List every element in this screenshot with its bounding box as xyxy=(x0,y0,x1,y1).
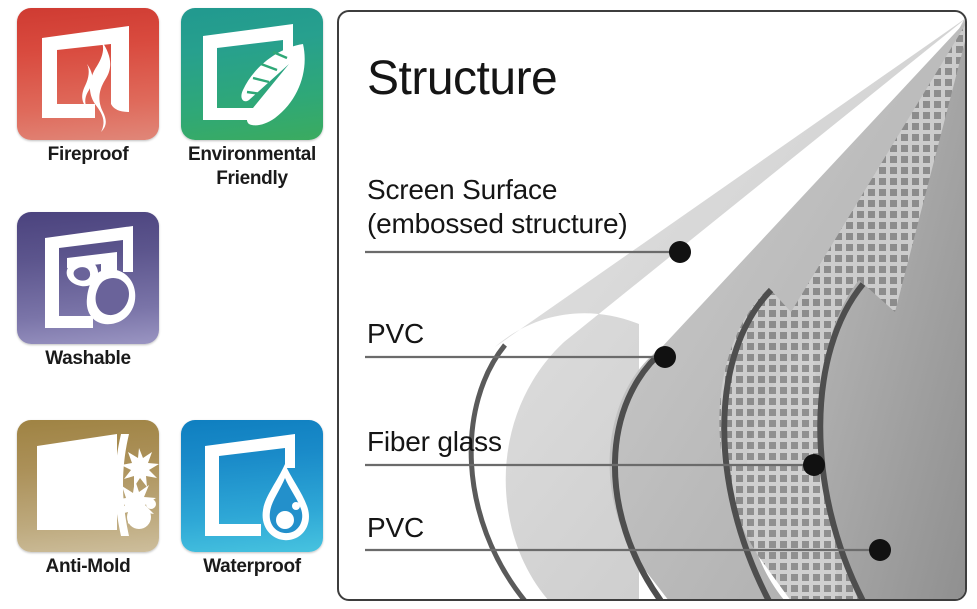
label-screen-surface-line1: Screen Surface xyxy=(367,173,628,207)
structure-panel: Structure Screen Surface (embossed struc… xyxy=(337,10,967,601)
feature-waterproof[interactable]: Waterproof xyxy=(172,420,332,577)
fireproof-flame-icon xyxy=(17,8,159,140)
label-screen-surface-line2: (embossed structure) xyxy=(367,207,628,241)
label-pvc-bottom: PVC xyxy=(367,512,424,544)
feature-label-waterproof: Waterproof xyxy=(172,557,332,577)
feature-icon-grid: Fireproof Environmental Friendly xyxy=(0,0,337,609)
leaf-icon xyxy=(181,8,323,140)
waterproof-tile[interactable] xyxy=(181,420,323,552)
water-drop-icon xyxy=(181,420,323,552)
feature-label-fireproof: Fireproof xyxy=(8,145,168,165)
feature-label-washable: Washable xyxy=(8,349,168,369)
mold-spore-icon xyxy=(17,420,159,552)
label-screen-surface: Screen Surface (embossed structure) xyxy=(367,173,628,241)
feature-washable[interactable]: Washable xyxy=(8,212,168,369)
feature-fireproof[interactable]: Fireproof xyxy=(8,8,168,165)
dot-fiber-glass xyxy=(803,454,825,476)
label-fiber-glass: Fiber glass xyxy=(367,426,502,458)
environmental-friendly-tile[interactable] xyxy=(181,8,323,140)
feature-environmental-friendly[interactable]: Environmental Friendly xyxy=(172,8,332,188)
dot-pvc-top xyxy=(654,346,676,368)
dot-pvc-bottom xyxy=(869,539,891,561)
washable-tile[interactable] xyxy=(17,212,159,344)
anti-mold-tile[interactable] xyxy=(17,420,159,552)
label-pvc-top: PVC xyxy=(367,318,424,350)
feature-label-anti-mold: Anti-Mold xyxy=(8,557,168,577)
fireproof-tile[interactable] xyxy=(17,8,159,140)
feature-label-environmental-line2: Friendly xyxy=(172,169,332,188)
feature-anti-mold[interactable]: Anti-Mold xyxy=(8,420,168,577)
dot-screen-surface xyxy=(669,241,691,263)
page-title: Structure xyxy=(367,51,557,106)
sponge-water-icon xyxy=(17,212,159,344)
feature-label-environmental-line1: Environmental xyxy=(172,145,332,164)
